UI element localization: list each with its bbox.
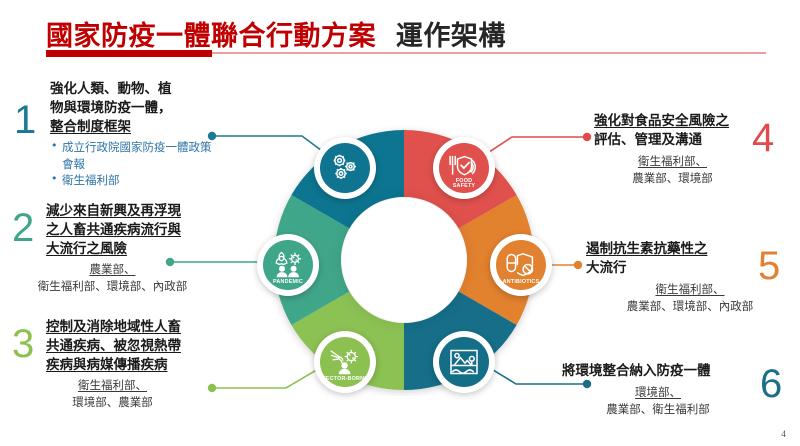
item-2-heading-line-2: 之人畜共通疾病流行與 xyxy=(46,221,215,240)
gears-icon-bubble[interactable] xyxy=(314,137,376,199)
biohazard-icon xyxy=(270,249,306,281)
antibiotics-icon xyxy=(503,249,539,281)
item-4-heading-line-1: 強化對食品安全風險之 xyxy=(594,112,751,131)
antibiotics-label: ANTIBIOTICS xyxy=(496,280,546,286)
item-6-heading-line-1: 將環境整合納入防疫一體 xyxy=(562,362,754,381)
item-6-sub-line-1: 環境部、 xyxy=(635,385,681,399)
page-number: 4 xyxy=(781,430,786,440)
item-3-heading-line-1: 控制及消除地域性人畜 xyxy=(46,318,215,337)
item-1-heading: 強化人類、動物、植 物與環境防疫一體， 整合制度框架 xyxy=(50,80,214,137)
item-6-subtext: 環境部、 農業部、衛生福利部 xyxy=(562,384,754,417)
vector-borne-bubble[interactable]: VECTOR-BORNE xyxy=(314,331,376,393)
item-5: 5 遏制抗生素抗藥性之 大流行 衛生福利部、 農業部、環境部、內政部 xyxy=(586,240,794,315)
connector-dot-4 xyxy=(583,133,591,141)
pandemic-bubble[interactable]: PANDEMIC xyxy=(257,234,319,296)
item-2-heading-line-1: 減少來自新興及再浮現 xyxy=(46,202,215,221)
item-3-subtext: 衛生福利部、 環境部、農業部 xyxy=(10,377,215,410)
item-6-number: 6 xyxy=(760,364,782,404)
item-1-number: 1 xyxy=(14,100,36,140)
item-2-number: 2 xyxy=(12,208,34,248)
item-3-heading-line-2: 共通疾病、被忽視熱帶 xyxy=(46,337,215,356)
item-4-sub-line-2: 農業部、環境部 xyxy=(594,170,751,187)
vector-borne-label: VECTOR-BORNE xyxy=(320,377,370,383)
food-safety-bubble[interactable]: FOODSAFETY xyxy=(433,137,495,199)
item-4-sub-line-1: 衛生福利部、 xyxy=(638,154,707,168)
item-2: 2 減少來自新興及再浮現 之人畜共通疾病流行與 大流行之風險 農業部、 衛生福利… xyxy=(10,202,215,295)
item-5-sub-line-2: 農業部、環境部、內政部 xyxy=(586,298,794,315)
gears-icon xyxy=(328,151,362,185)
item-2-sub-line-1: 農業部、 xyxy=(90,262,136,276)
donut-hub-highlight xyxy=(342,198,466,322)
item-3-number: 3 xyxy=(12,324,34,364)
item-3-heading-line-3: 疾病與病媒傳播疾病 xyxy=(46,356,215,375)
item-4-number: 4 xyxy=(752,118,774,158)
item-4-heading: 強化對食品安全風險之 評估、管理及溝通 xyxy=(594,112,751,150)
item-4-subtext: 衛生福利部、 農業部、環境部 xyxy=(594,153,751,186)
item-4: 4 強化對食品安全風險之 評估、管理及溝通 衛生福利部、 農業部、環境部 xyxy=(594,112,789,187)
item-2-heading: 減少來自新興及再浮現 之人畜共通疾病流行與 大流行之風險 xyxy=(46,202,215,259)
mosquito-icon xyxy=(327,346,363,378)
environment-bubble[interactable] xyxy=(433,331,495,393)
item-1-heading-line-3: 整合制度框架 xyxy=(50,118,214,137)
item-1-heading-line-1: 強化人類、動物、植 xyxy=(50,80,214,99)
item-5-heading-line-1: 遏制抗生素抗藥性之 xyxy=(586,240,752,259)
food-safety-label: FOODSAFETY xyxy=(439,179,489,190)
item-1-bullets: 成立行政院國家防疫一體政策會報 衛生福利部 xyxy=(50,139,214,187)
item-3-sub-line-2: 環境部、農業部 xyxy=(10,394,215,411)
antibiotics-bubble[interactable]: ANTIBIOTICS xyxy=(490,234,552,296)
item-6: 6 將環境整合納入防疫一體 環境部、 農業部、衛生福利部 xyxy=(562,362,794,418)
pandemic-label: PANDEMIC xyxy=(263,280,313,286)
item-1: 1 強化人類、動物、植 物與環境防疫一體， 整合制度框架 成立行政院國家防疫一體… xyxy=(14,80,214,188)
item-5-heading-line-2: 大流行 xyxy=(586,259,752,278)
item-5-number: 5 xyxy=(758,246,780,286)
item-1-heading-line-2: 物與環境防疫一體， xyxy=(50,99,214,118)
connector-dot-5 xyxy=(574,261,582,269)
slide-canvas: 國家防疫一體聯合行動方案 運作架構 xyxy=(0,0,800,446)
item-6-sub-line-2: 農業部、衛生福利部 xyxy=(562,401,754,418)
item-3-heading: 控制及消除地域性人畜 共通疾病、被忽視熱帶 疾病與病媒傳播疾病 xyxy=(46,318,215,375)
item-4-heading-line-2: 評估、管理及溝通 xyxy=(594,131,751,150)
item-5-heading: 遏制抗生素抗藥性之 大流行 xyxy=(586,240,752,278)
list-item: 衛生福利部 xyxy=(50,172,214,188)
item-6-heading: 將環境整合納入防疫一體 xyxy=(562,362,754,381)
item-2-subtext: 農業部、 衛生福利部、環境部、內政部 xyxy=(10,261,215,294)
list-item: 成立行政院國家防疫一體政策會報 xyxy=(50,139,214,171)
item-2-heading-line-3: 大流行之風險 xyxy=(46,240,215,259)
item-2-sub-line-2: 衛生福利部、環境部、內政部 xyxy=(10,278,215,295)
item-5-sub-line-1: 衛生福利部、 xyxy=(656,282,725,296)
item-3-sub-line-1: 衛生福利部、 xyxy=(78,378,147,392)
item-3: 3 控制及消除地域性人畜 共通疾病、被忽視熱帶 疾病與病媒傳播疾病 衛生福利部、… xyxy=(10,318,215,411)
landscape-icon xyxy=(447,346,481,378)
